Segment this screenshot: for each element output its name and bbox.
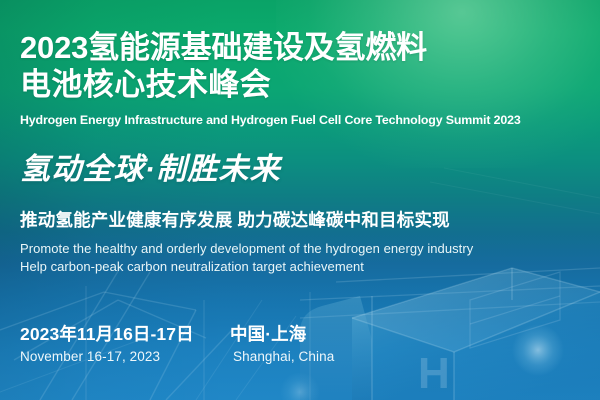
tagline-en-block: Promote the healthy and orderly developm… <box>20 240 473 276</box>
tagline-en-line-2: Help carbon-peak carbon neutralization t… <box>20 258 473 276</box>
title-en: Hydrogen Energy Infrastructure and Hydro… <box>20 112 586 128</box>
slogan-cn: 氢动全球·制胜未来 <box>20 152 281 188</box>
title-cn-line-2: 电池核心技术峰会 <box>20 66 586 103</box>
banner-content: 2023氢能源基础建设及氢燃料 电池核心技术峰会 Hydrogen Energy… <box>0 0 600 400</box>
tagline-en-line-1: Promote the healthy and orderly developm… <box>20 240 473 258</box>
event-details-row-en: November 16-17, 2023 Shanghai, China <box>20 346 440 367</box>
event-venue-en: Shanghai, China <box>230 346 334 367</box>
event-details-row-cn: 2023年11月16日-17日 中国·上海 <box>20 322 440 346</box>
event-details: 2023年11月16日-17日 中国·上海 November 16-17, 20… <box>20 322 440 367</box>
event-venue-cn: 中国·上海 <box>230 322 306 346</box>
title-cn-line-1: 2023氢能源基础建设及氢燃料 <box>20 29 586 66</box>
title-block: 2023氢能源基础建设及氢燃料 电池核心技术峰会 Hydrogen Energy… <box>20 29 586 128</box>
event-date-en: November 16-17, 2023 <box>20 346 230 367</box>
tagline-cn: 推动氢能产业健康有序发展 助力碳达峰碳中和目标实现 <box>20 209 450 232</box>
event-date-cn: 2023年11月16日-17日 <box>20 322 230 346</box>
conference-banner: H 2023氢能源基础建设及氢燃料 电池核心技术峰会 Hydrogen Ener… <box>0 0 600 400</box>
